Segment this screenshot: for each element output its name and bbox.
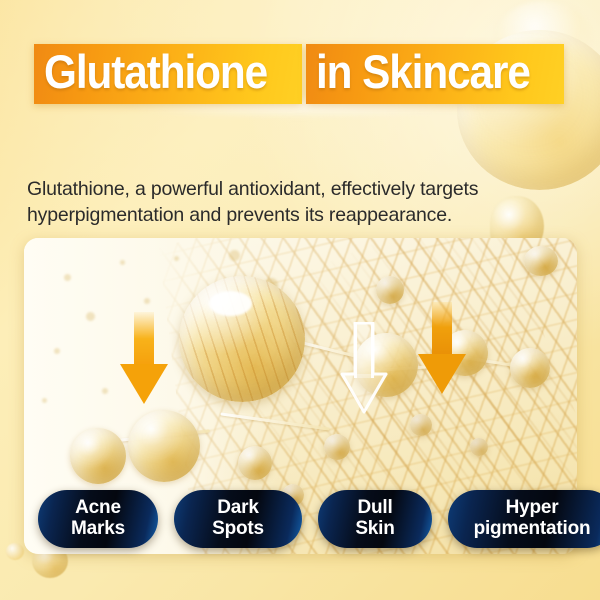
molecule-sphere <box>470 438 488 456</box>
speck <box>42 398 47 403</box>
pill-label-line2: Skin <box>332 518 418 539</box>
speck <box>120 260 125 265</box>
headline-banner-line2: in Skincare <box>306 44 564 104</box>
subtitle-block: Glutathione, a powerful antioxidant, eff… <box>27 176 547 228</box>
molecule-sphere <box>238 446 272 480</box>
molecule-sphere <box>128 410 200 482</box>
pill-label-line1: Dark <box>188 497 288 518</box>
speck <box>229 250 240 261</box>
headline-text-line1: Glutathione <box>44 47 267 97</box>
benefit-pill-dull-skin[interactable]: Dull Skin <box>318 490 432 548</box>
poster-canvas: Glutathione in Skincare Glutathione, a p… <box>0 0 600 600</box>
speck <box>102 388 108 394</box>
pill-label-line2: pigmentation <box>462 518 600 539</box>
speck <box>144 298 150 304</box>
page-title: Glutathione in Skincare <box>34 38 564 104</box>
molecule-sphere <box>376 276 404 304</box>
molecule-sphere <box>410 414 432 436</box>
molecule-sphere-primary <box>179 276 305 402</box>
arrow-shaft <box>432 302 452 358</box>
down-arrow-icon <box>418 302 466 394</box>
subtitle-line-1: Glutathione, a powerful antioxidant, eff… <box>27 178 478 200</box>
subtitle-line-2: hyperpigmentation and prevents its reapp… <box>27 202 547 228</box>
down-arrow-outline-icon <box>340 322 388 414</box>
arrow-shaft <box>134 312 154 368</box>
benefit-pill-row: Acne Marks Dark Spots Dull Skin Hyper pi… <box>38 490 600 548</box>
down-arrow-icon <box>120 312 168 404</box>
pill-label-line2: Marks <box>52 518 144 539</box>
arrow-outline-stroke <box>340 322 388 414</box>
headline-text-line2: in Skincare <box>316 47 530 97</box>
benefit-pill-dark-spots[interactable]: Dark Spots <box>174 490 302 548</box>
molecule-sphere <box>324 434 350 460</box>
pill-label-line1: Hyper <box>462 497 600 518</box>
benefit-pill-hyperpigmentation[interactable]: Hyper pigmentation <box>448 490 600 548</box>
speck <box>86 312 95 321</box>
headline-banner-line1: Glutathione <box>34 44 302 104</box>
pill-label-line1: Acne <box>52 497 144 518</box>
molecule-sphere <box>510 348 550 388</box>
arrow-head <box>418 354 466 394</box>
benefit-pill-acne-marks[interactable]: Acne Marks <box>38 490 158 548</box>
pill-label-line1: Dull <box>332 497 418 518</box>
speck <box>54 348 60 354</box>
golden-droplet-tiny-icon <box>6 543 24 560</box>
pill-label-line2: Spots <box>188 518 288 539</box>
molecule-sphere <box>70 428 126 484</box>
speck <box>64 274 71 281</box>
molecule-sphere <box>524 246 558 276</box>
arrow-head <box>120 364 168 404</box>
speck <box>174 256 179 261</box>
